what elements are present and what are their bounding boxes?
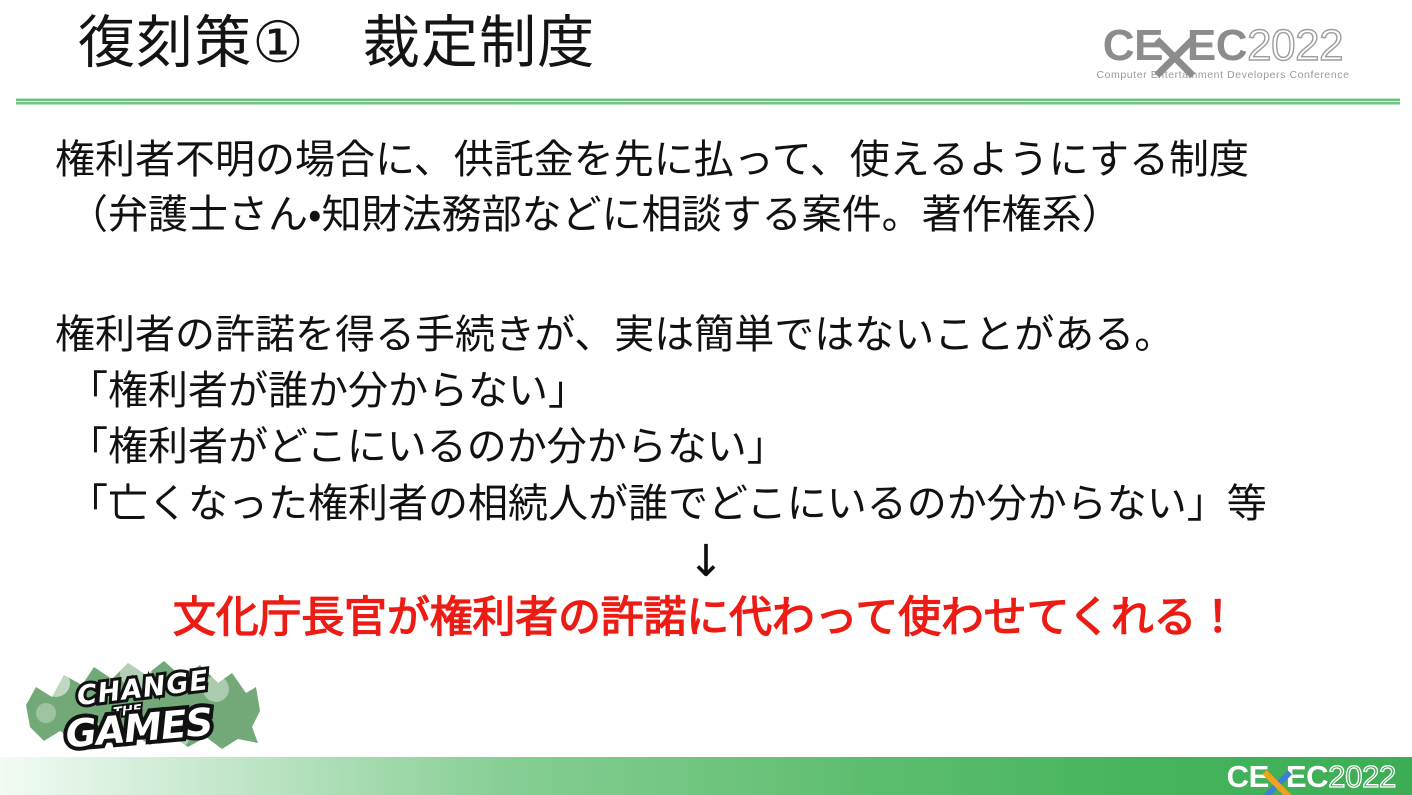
cedec-tagline: Computer Entertainment Developers Confer… xyxy=(1089,69,1357,81)
conclusion-text: 文化庁長官が権利者の許諾に代わって使わせてくれる！ xyxy=(0,597,1412,640)
page-title: 復刻策① 裁定制度 xyxy=(78,14,595,74)
cedec-wordmark: CEEC2022 xyxy=(1089,24,1357,68)
body-line-6: 「亡くなった権利者の相続人が誰でどこにいるのか分からない」等 xyxy=(68,484,1267,524)
body-line-5: 「権利者がどこにいるのか分からない」 xyxy=(68,427,787,467)
arrow-down-icon: ↓ xyxy=(0,540,1412,584)
slide-canvas: 復刻策① 裁定制度 CEEC2022 Computer Entertainmen… xyxy=(0,0,1412,795)
body-line-3: 権利者の許諾を得る手続きが、実は簡単ではないことがある。 xyxy=(55,315,1174,355)
cedec-footer-ce: CE xyxy=(1227,759,1269,794)
cedec-wordmark-ce: CE xyxy=(1103,21,1163,70)
cedec-wordmark-ec: EC xyxy=(1187,21,1247,70)
cedec-footer-ec: EC xyxy=(1286,759,1328,794)
change-the-games-logo: CHANGE THE GAMES xyxy=(16,653,264,753)
body-line-4: 「権利者が誰か分からない」 xyxy=(68,371,588,411)
cedec-x-icon xyxy=(1161,34,1188,61)
cedec-year: 2022 xyxy=(1247,21,1343,70)
body-line-1: 権利者不明の場合に、供託金を先に払って、使えるようにする制度 xyxy=(55,140,1249,180)
cedec-logo-footer: CEEC2022 xyxy=(1227,761,1396,792)
header-divider xyxy=(16,98,1400,105)
body-line-2: （弁護士さん・知財法務部などに相談する案件。著作権系） xyxy=(68,195,1122,235)
cedec-logo-header: CEEC2022 Computer Entertainment Develope… xyxy=(1089,24,1357,81)
cedec-footer-x-icon xyxy=(1268,769,1287,788)
cedec-footer-year: 2022 xyxy=(1328,759,1396,794)
footer-bar xyxy=(0,757,1412,795)
